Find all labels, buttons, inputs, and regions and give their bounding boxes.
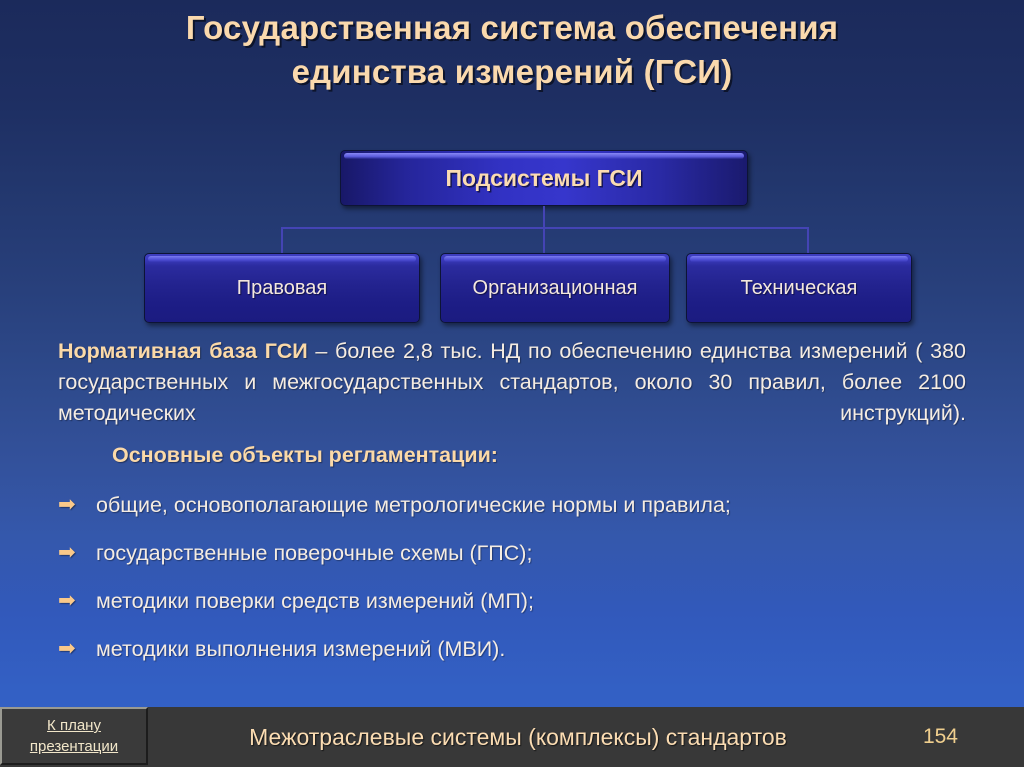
list-item: ➡ государственные поверочные схемы (ГПС)… [58, 538, 998, 586]
connector-drop-left [281, 227, 283, 253]
diagram-node-pravovaya: Правовая [144, 253, 420, 323]
back-to-plan-line-1: К плану [47, 715, 101, 736]
connector-horizontal-bus [281, 227, 809, 229]
list-item-label: методики выполнения измерений (МВИ). [96, 634, 505, 664]
list-item: ➡ общие, основополагающие метрологически… [58, 490, 998, 538]
list-item-label: общие, основополагающие метрологические … [96, 490, 731, 520]
subsystems-diagram: Подсистемы ГСИ Правовая Организационная … [0, 140, 1024, 330]
page-title: Государственная система обеспечения един… [0, 6, 1024, 94]
normative-base-paragraph: Нормативная база ГСИ – более 2,8 тыс. НД… [58, 336, 966, 429]
page-title-line-1: Государственная система обеспечения [0, 6, 1024, 50]
arrow-right-icon: ➡ [58, 490, 96, 520]
body-paragraph-block: Нормативная база ГСИ – более 2,8 тыс. НД… [58, 336, 966, 429]
arrow-right-icon: ➡ [58, 634, 96, 664]
arrow-right-icon: ➡ [58, 538, 96, 568]
list-item-label: методики поверки средств измерений (МП); [96, 586, 534, 616]
footer-section-title: Межотраслевые системы (комплексы) станда… [148, 707, 888, 767]
connector-drop-right [807, 227, 809, 253]
page-number: 154 [923, 707, 958, 767]
diagram-node-root-label: Подсистемы ГСИ [446, 165, 643, 192]
list-item: ➡ методики поверки средств измерений (МП… [58, 586, 998, 634]
objects-subheading: Основные объекты регламентации: [112, 443, 498, 468]
list-item-label: государственные поверочные схемы (ГПС); [96, 538, 532, 568]
diagram-node-tehnicheskaya-label: Техническая [741, 277, 858, 300]
normative-base-lead: Нормативная база ГСИ [58, 339, 308, 363]
diagram-node-root: Подсистемы ГСИ [340, 150, 748, 206]
diagram-node-tehnicheskaya: Техническая [686, 253, 912, 323]
page-title-line-2: единства измерений (ГСИ) [0, 50, 1024, 94]
arrow-right-icon: ➡ [58, 586, 96, 616]
connector-drop-center [543, 227, 545, 253]
diagram-node-organizacionnaya-label: Организационная [473, 277, 638, 300]
diagram-node-organizacionnaya: Организационная [440, 253, 670, 323]
slide-root: Государственная система обеспечения един… [0, 0, 1024, 767]
back-to-plan-line-2: презентации [30, 736, 118, 757]
slide-footer: К плану презентации Межотраслевые систем… [0, 707, 1024, 767]
objects-bullet-list: ➡ общие, основополагающие метрологически… [58, 490, 998, 682]
list-item: ➡ методики выполнения измерений (МВИ). [58, 634, 998, 682]
diagram-node-pravovaya-label: Правовая [237, 277, 328, 300]
back-to-plan-button[interactable]: К плану презентации [0, 707, 148, 765]
